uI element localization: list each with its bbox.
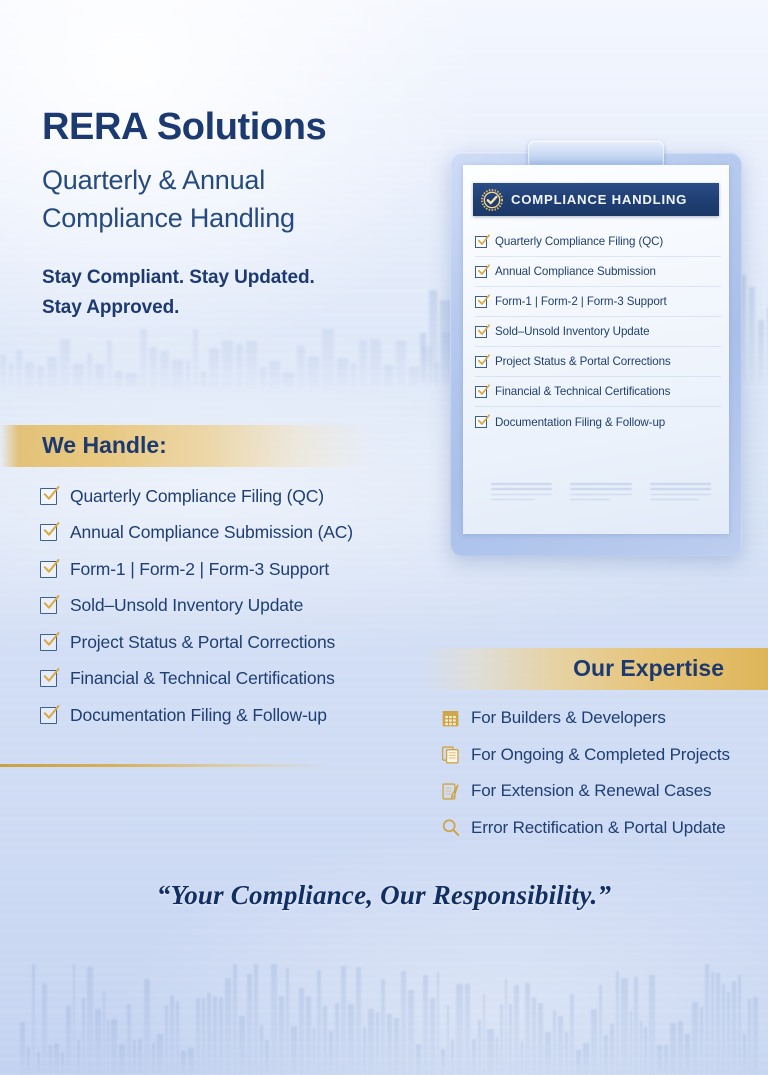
closing-quote: “Your Compliance, Our Responsibility.” [0, 880, 768, 911]
title-block: RERA Solutions Quarterly & Annual Compli… [42, 108, 472, 322]
checkbox-checked-icon [40, 561, 57, 578]
clipboard-checklist-item: Project Status & Portal Corrections [475, 347, 721, 377]
checkbox-checked-icon [40, 597, 57, 614]
we-handle-item: Documentation Filing & Follow-up [40, 697, 460, 734]
clipboard-checklist-item-label: Project Status & Portal Corrections [495, 355, 671, 368]
we-handle-item-label: Sold–Unsold Inventory Update [70, 595, 303, 616]
clipboard-placeholder-text [491, 483, 711, 504]
gold-divider-rule [0, 764, 330, 767]
our-expertise-item-label: For Ongoing & Completed Projects [471, 745, 730, 765]
clipboard-header-bar: COMPLIANCE HANDLING [473, 183, 719, 216]
verified-seal-icon [481, 189, 503, 211]
we-handle-item-label: Financial & Technical Certifications [70, 668, 335, 689]
our-expertise-item: For Extension & Renewal Cases [440, 773, 768, 810]
clipboard-checklist-item: Form-1 | Form-2 | Form-3 Support [475, 287, 721, 317]
clipboard-checklist-item: Sold–Unsold Inventory Update [475, 317, 721, 347]
clipboard-checklist-item-label: Financial & Technical Certifications [495, 385, 670, 398]
headline-tagline-line-2: Stay Approved. [42, 293, 472, 322]
we-handle-item: Annual Compliance Submission (AC) [40, 515, 460, 552]
we-handle-heading: We Handle: [42, 432, 167, 459]
document-copy-icon [440, 744, 461, 765]
we-handle-item: Form-1 | Form-2 | Form-3 Support [40, 551, 460, 588]
clipboard-checklist-item: Quarterly Compliance Filing (QC) [475, 227, 721, 257]
we-handle-banner: We Handle: [0, 425, 372, 467]
placeholder-column [570, 483, 631, 504]
clipboard-paper: COMPLIANCE HANDLING Quarterly Compliance… [463, 165, 729, 534]
our-expertise-item-label: For Extension & Renewal Cases [471, 781, 711, 801]
we-handle-item: Project Status & Portal Corrections [40, 624, 460, 661]
checkbox-checked-icon [475, 326, 487, 338]
clipboard-header-title: COMPLIANCE HANDLING [511, 192, 687, 207]
our-expertise-item: Error Rectification & Portal Update [440, 810, 768, 847]
our-expertise-heading: Our Expertise [573, 655, 724, 682]
our-expertise-banner: Our Expertise [420, 648, 768, 690]
checkbox-checked-icon [475, 416, 487, 428]
our-expertise-item-label: Error Rectification & Portal Update [471, 818, 726, 838]
background-glow-bottom [120, 835, 768, 1075]
clipboard-graphic: COMPLIANCE HANDLING Quarterly Compliance… [450, 152, 742, 556]
we-handle-list: Quarterly Compliance Filing (QC)Annual C… [40, 478, 460, 734]
we-handle-item-label: Form-1 | Form-2 | Form-3 Support [70, 559, 329, 580]
subtitle-line-2: Compliance Handling [42, 200, 472, 238]
checkbox-checked-icon [475, 386, 487, 398]
checkbox-checked-icon [475, 236, 487, 248]
checkbox-checked-icon [475, 296, 487, 308]
our-expertise-item: For Ongoing & Completed Projects [440, 737, 768, 774]
poster-canvas: RERA Solutions Quarterly & Annual Compli… [0, 0, 768, 1075]
document-edit-icon [440, 781, 461, 802]
we-handle-item: Sold–Unsold Inventory Update [40, 588, 460, 625]
page-title: RERA Solutions [42, 108, 472, 148]
checkbox-checked-icon [40, 670, 57, 687]
we-handle-item-label: Quarterly Compliance Filing (QC) [70, 486, 324, 507]
clipboard-checklist-item: Documentation Filing & Follow-up [475, 407, 721, 437]
clipboard-checklist-item: Financial & Technical Certifications [475, 377, 721, 407]
subtitle-line-1: Quarterly & Annual [42, 162, 472, 200]
checkbox-checked-icon [475, 356, 487, 368]
we-handle-item-label: Documentation Filing & Follow-up [70, 705, 327, 726]
clipboard-checklist-item-label: Sold–Unsold Inventory Update [495, 325, 649, 338]
checkbox-checked-icon [475, 266, 487, 278]
clipboard-checklist-item: Annual Compliance Submission [475, 257, 721, 287]
headline-tagline-line-1: Stay Compliant. Stay Updated. [42, 263, 472, 292]
checkbox-checked-icon [40, 634, 57, 651]
building-icon [440, 708, 461, 729]
clipboard-checklist-item-label: Annual Compliance Submission [495, 265, 656, 278]
placeholder-column [650, 483, 711, 504]
clipboard-checklist-item-label: Quarterly Compliance Filing (QC) [495, 235, 663, 248]
we-handle-item-label: Annual Compliance Submission (AC) [70, 522, 353, 543]
we-handle-item: Financial & Technical Certifications [40, 661, 460, 698]
clipboard-checklist: Quarterly Compliance Filing (QC)Annual C… [475, 227, 721, 437]
we-handle-item-label: Project Status & Portal Corrections [70, 632, 335, 653]
checkbox-checked-icon [40, 524, 57, 541]
clipboard-checklist-item-label: Form-1 | Form-2 | Form-3 Support [495, 295, 667, 308]
our-expertise-item-label: For Builders & Developers [471, 708, 666, 728]
checkbox-checked-icon [40, 488, 57, 505]
placeholder-column [491, 483, 552, 504]
our-expertise-item: For Builders & Developers [440, 700, 768, 737]
headline-tagline: Stay Compliant. Stay Updated. Stay Appro… [42, 263, 472, 322]
our-expertise-list: For Builders & DevelopersFor Ongoing & C… [440, 700, 768, 846]
we-handle-item: Quarterly Compliance Filing (QC) [40, 478, 460, 515]
clipboard-checklist-item-label: Documentation Filing & Follow-up [495, 416, 665, 429]
checkbox-checked-icon [40, 707, 57, 724]
page-subtitle: Quarterly & Annual Compliance Handling [42, 162, 472, 238]
magnifier-icon [440, 817, 461, 838]
